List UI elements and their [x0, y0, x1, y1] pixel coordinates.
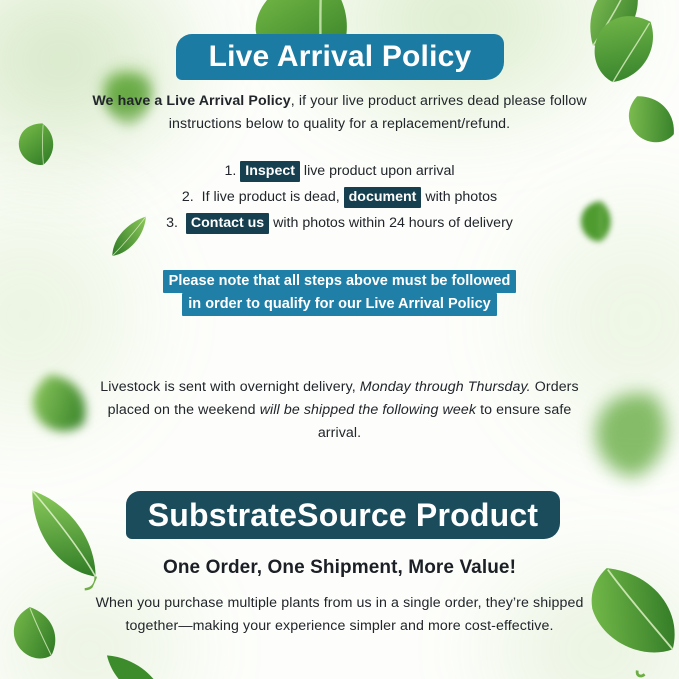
outro-paragraph: When you purchase multiple plants from u… — [0, 592, 679, 638]
policy-note: Please note that all steps above must be… — [0, 273, 679, 319]
shipping-italic-1: Monday through Thursday. — [360, 379, 531, 395]
live-arrival-policy-banner: Live Arrival Policy — [176, 34, 504, 80]
step-text: live product upon arrival — [300, 163, 455, 179]
step-number: 2. — [182, 189, 194, 205]
policy-infographic: Live Arrival Policy We have a Live Arriv… — [0, 0, 679, 679]
content-layer: Live Arrival Policy We have a Live Arriv… — [0, 0, 679, 679]
step-number: 3. — [166, 215, 178, 231]
step-text: with photos within 24 hours of delivery — [269, 215, 513, 231]
intro-paragraph: We have a Live Arrival Policy, if your l… — [0, 90, 679, 136]
step-prefix: If live product is dead, — [198, 189, 344, 205]
list-item: 1.Inspect live product upon arrival — [0, 164, 679, 178]
list-item: 3. Contact us with photos within 24 hour… — [0, 216, 679, 230]
value-subheading: One Order, One Shipment, More Value! — [0, 557, 679, 579]
intro-bold-lead: We have a Live Arrival Policy — [92, 93, 290, 109]
shipping-paragraph: Livestock is sent with overnight deliver… — [0, 376, 679, 445]
step-highlight-inspect: Inspect — [240, 161, 300, 182]
note-line: Please note that all steps above must be… — [0, 273, 679, 289]
note-line-1: Please note that all steps above must be… — [163, 270, 517, 293]
step-highlight-document: document — [344, 187, 422, 208]
note-line: in order to qualify for our Live Arrival… — [0, 296, 679, 312]
step-number: 1. — [224, 163, 236, 179]
shipping-part-1: Livestock is sent with overnight deliver… — [100, 379, 360, 395]
steps-list: 1.Inspect live product upon arrival 2. I… — [0, 164, 679, 243]
list-item: 2. If live product is dead, document wit… — [0, 190, 679, 204]
step-highlight-contact-us: Contact us — [186, 213, 269, 234]
step-text: with photos — [421, 189, 497, 205]
shipping-italic-2: will be shipped the following week — [260, 402, 476, 418]
substratesource-product-banner: SubstrateSource Product — [126, 491, 560, 539]
note-line-2: in order to qualify for our Live Arrival… — [182, 293, 496, 316]
